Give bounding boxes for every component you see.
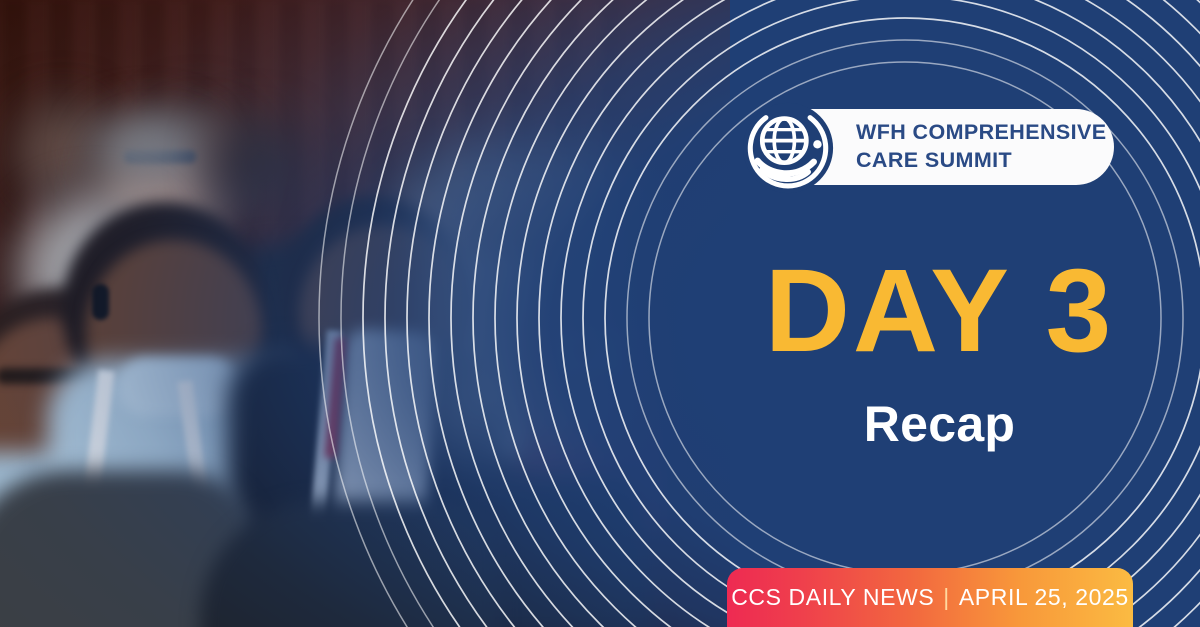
ribbon-text-group: CCS DAILY NEWS|APRIL 25, 2025	[731, 584, 1129, 611]
poster-canvas: WFH Comprehensive Care Summit DAY 3 Reca…	[0, 0, 1200, 627]
ribbon-separator: |	[943, 584, 950, 611]
summit-logo-line-2: Care Summit	[856, 146, 1126, 174]
summit-logo-text: WFH Comprehensive Care Summit	[856, 118, 1126, 175]
page-subtitle: Recap	[727, 399, 1152, 449]
globe-in-hand-icon	[742, 102, 834, 194]
summit-logo-line-1: WFH Comprehensive	[856, 120, 1106, 144]
page-title: DAY 3	[727, 252, 1152, 370]
ribbon-date: APRIL 25, 2025	[959, 584, 1129, 610]
daily-news-ribbon: CCS DAILY NEWS|APRIL 25, 2025	[727, 568, 1133, 627]
ribbon-publication: CCS DAILY NEWS	[731, 584, 934, 610]
